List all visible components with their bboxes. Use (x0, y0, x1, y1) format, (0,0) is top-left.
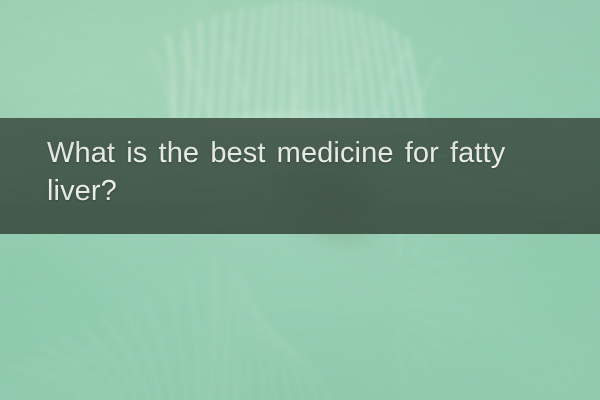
image-card: What is the best medicine for fatty live… (0, 0, 600, 400)
caption-text: What is the best medicine for fatty live… (47, 134, 572, 210)
caption-band: What is the best medicine for fatty live… (0, 118, 600, 234)
